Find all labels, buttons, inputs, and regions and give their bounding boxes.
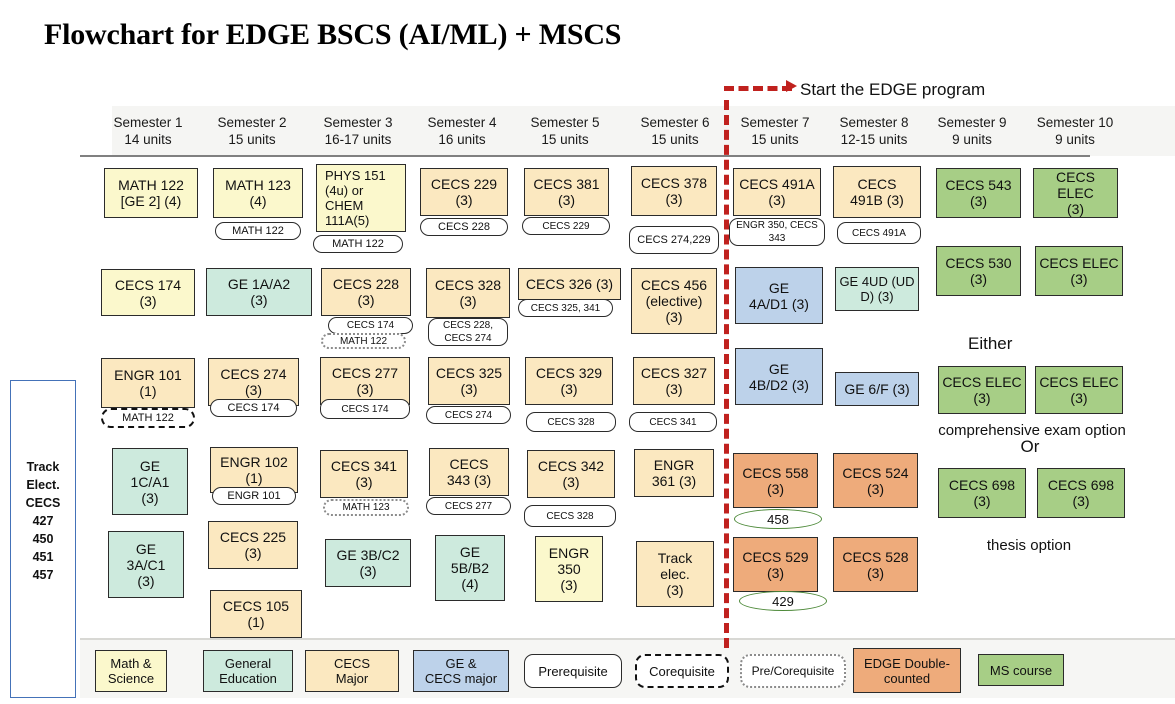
course-box[interactable]: CECS ELEC (3) [938,366,1026,414]
semester-header-9: Semester 9 9 units [919,114,1025,148]
prerequisite-tag: CECS 174 [320,399,410,419]
course-box[interactable]: CECS 543 (3) [936,168,1021,218]
prerequisite-tag: ENGR 101 [212,487,296,505]
legend-pre-corequisite: Pre/Corequisite [740,654,846,688]
prerequisite-tag: CECS 174 [210,399,297,417]
semester-header-1: Semester 1 14 units [95,114,201,148]
course-box[interactable]: GE 6/F (3) [835,372,919,406]
semester-units-5: 15 units [512,131,618,148]
flowchart-canvas: Flowchart for EDGE BSCS (AI/ML) + MSCS S… [0,0,1175,704]
prerequisite-tag: CECS 277 [426,497,511,515]
thesis-note: thesis option [936,537,1122,554]
legend-general-education: General Education [203,650,293,692]
course-box[interactable]: CECS 558 (3) [733,453,818,508]
semester-name-1: Semester 1 [95,114,201,131]
course-box[interactable]: CECS 228 (3) [321,268,411,316]
course-box[interactable]: GE 1A/A2 (3) [206,268,312,316]
course-box[interactable]: CECS 327 (3) [633,357,715,405]
legend-ms-course: MS course [978,654,1064,686]
course-box[interactable]: CECS 378 (3) [631,166,717,216]
course-box[interactable]: CECS ELEC (3) [1033,168,1118,218]
course-box[interactable]: CECS ELEC (3) [1035,246,1123,296]
prerequisite-tag: CECS 228, CECS 274 [428,318,508,346]
course-box[interactable]: CECS 524 (3) [833,453,918,508]
semester-units-3: 16-17 units [305,131,411,148]
semester-header-5: Semester 5 15 units [512,114,618,148]
prerequisite-tag: CECS 341 [629,412,717,432]
course-box[interactable]: CECS 343 (3) [429,448,509,496]
corequisite-tag: MATH 122 [101,408,195,428]
course-box[interactable]: CECS 277 (3) [320,357,410,405]
course-box[interactable]: CECS 174 (3) [101,269,195,316]
course-box[interactable]: CECS ELEC (3) [1035,366,1123,414]
course-box[interactable]: CECS 325 (3) [428,357,510,405]
semester-units-9: 9 units [919,131,1025,148]
course-box[interactable]: CECS 381 (3) [524,168,609,216]
semester-header-4: Semester 4 16 units [409,114,515,148]
edge-arrow-arm [724,86,792,91]
prerequisite-tag: MATH 122 [215,222,301,240]
course-box[interactable]: CECS 342 (3) [527,450,615,498]
course-box[interactable]: PHYS 151 (4u) or CHEM 111A(5) [316,164,406,232]
semester-name-7: Semester 7 [722,114,828,131]
page-title: Flowchart for EDGE BSCS (AI/ML) + MSCS [44,18,621,52]
course-box[interactable]: GE 4A/D1 (3) [735,267,823,324]
course-box[interactable]: CECS 105 (1) [210,590,302,638]
course-box[interactable]: CECS 698 (3) [938,468,1026,518]
legend-prerequisite: Prerequisite [524,654,622,688]
semester-name-10: Semester 10 [1022,114,1128,131]
semester-header-2: Semester 2 15 units [199,114,305,148]
course-box[interactable]: ENGR 361 (3) [634,449,714,497]
course-box[interactable]: GE 4B/D2 (3) [735,348,823,405]
track-elective-label: Track Elect. CECS 427 450 451 457 [10,458,76,584]
prerequisite-tag: ENGR 350, CECS 343 [729,218,825,246]
course-box[interactable]: ENGR 101 (1) [101,358,195,408]
prerequisite-tag: MATH 122 [313,235,403,253]
course-box[interactable]: CECS 341 (3) [320,450,408,498]
course-box[interactable]: CECS 529 (3) [733,537,818,592]
semester-units-7: 15 units [722,131,828,148]
pre-corequisite-tag: MATH 122 [321,333,406,349]
semester-name-2: Semester 2 [199,114,305,131]
course-box[interactable]: GE 5B/B2 (4) [435,535,505,601]
note-ellipse: 458 [734,509,822,529]
semester-units-10: 9 units [1022,131,1128,148]
semester-units-4: 16 units [409,131,515,148]
or-note: Or [1010,437,1050,457]
legend-corequisite: Corequisite [635,654,729,688]
semester-name-9: Semester 9 [919,114,1025,131]
prerequisite-tag: CECS 491A [837,222,921,244]
prerequisite-tag: CECS 174 [328,317,413,334]
semester-header-3: Semester 3 16-17 units [305,114,411,148]
semester-name-5: Semester 5 [512,114,618,131]
course-box[interactable]: CECS 329 (3) [525,357,613,405]
semester-name-8: Semester 8 [821,114,927,131]
course-box[interactable]: CECS 456 (elective) (3) [631,268,717,334]
course-box[interactable]: CECS 326 (3) [518,268,621,300]
semester-header-10: Semester 10 9 units [1022,114,1128,148]
course-box[interactable]: CECS 530 (3) [936,246,1021,296]
prerequisite-tag: CECS 228 [420,218,508,236]
prerequisite-tag: CECS 328 [526,412,616,432]
note-ellipse: 429 [739,591,827,611]
course-box[interactable]: MATH 123 (4) [213,168,303,218]
course-box[interactable]: MATH 122 [GE 2] (4) [104,168,198,218]
legend-math-science: Math & Science [95,650,167,692]
semester-header-7: Semester 7 15 units [722,114,828,148]
header-rule [80,155,1090,157]
semester-units-6: 15 units [622,131,728,148]
legend-edge-double-counted: EDGE Double- counted [853,648,961,693]
prerequisite-tag: CECS 274,229 [629,226,719,254]
legend-cecs-major: CECS Major [305,650,399,692]
prerequisite-tag: CECS 274 [426,406,511,424]
course-box[interactable]: CECS 328 (3) [426,268,510,318]
semester-header-8: Semester 8 12-15 units [821,114,927,148]
semester-name-6: Semester 6 [622,114,728,131]
either-note: Either [968,334,1088,354]
semester-header-6: Semester 6 15 units [622,114,728,148]
semester-name-3: Semester 3 [305,114,411,131]
semester-units-1: 14 units [95,131,201,148]
course-box[interactable]: CECS 491B (3) [833,166,921,218]
semester-units-2: 15 units [199,131,305,148]
prerequisite-tag: CECS 325, 341 [518,299,613,317]
course-box[interactable]: GE 3B/C2 (3) [325,539,411,587]
edge-divider-line [724,100,729,648]
edge-start-label: Start the EDGE program [800,80,985,100]
course-box[interactable]: CECS 225 (3) [208,521,298,569]
course-box[interactable]: CECS 698 (3) [1037,468,1125,518]
edge-arrow-head [786,80,797,92]
course-box[interactable]: CECS 229 (3) [420,168,508,216]
course-box[interactable]: Track elec. (3) [636,541,714,607]
course-box[interactable]: GE 1C/A1 (3) [112,448,188,515]
semester-units-8: 12-15 units [821,131,927,148]
course-box[interactable]: CECS 491A (3) [733,168,821,216]
course-box[interactable]: ENGR 350 (3) [535,536,603,602]
legend-ge-cecs-major: GE & CECS major [413,650,509,692]
prerequisite-tag: CECS 328 [524,505,616,527]
course-box[interactable]: GE 4UD (UD D) (3) [835,267,919,311]
course-box[interactable]: CECS 528 (3) [833,537,918,592]
prerequisite-tag: CECS 229 [522,217,610,235]
semester-name-4: Semester 4 [409,114,515,131]
course-box[interactable]: GE 3A/C1 (3) [108,531,184,598]
pre-corequisite-tag: MATH 123 [323,499,409,516]
